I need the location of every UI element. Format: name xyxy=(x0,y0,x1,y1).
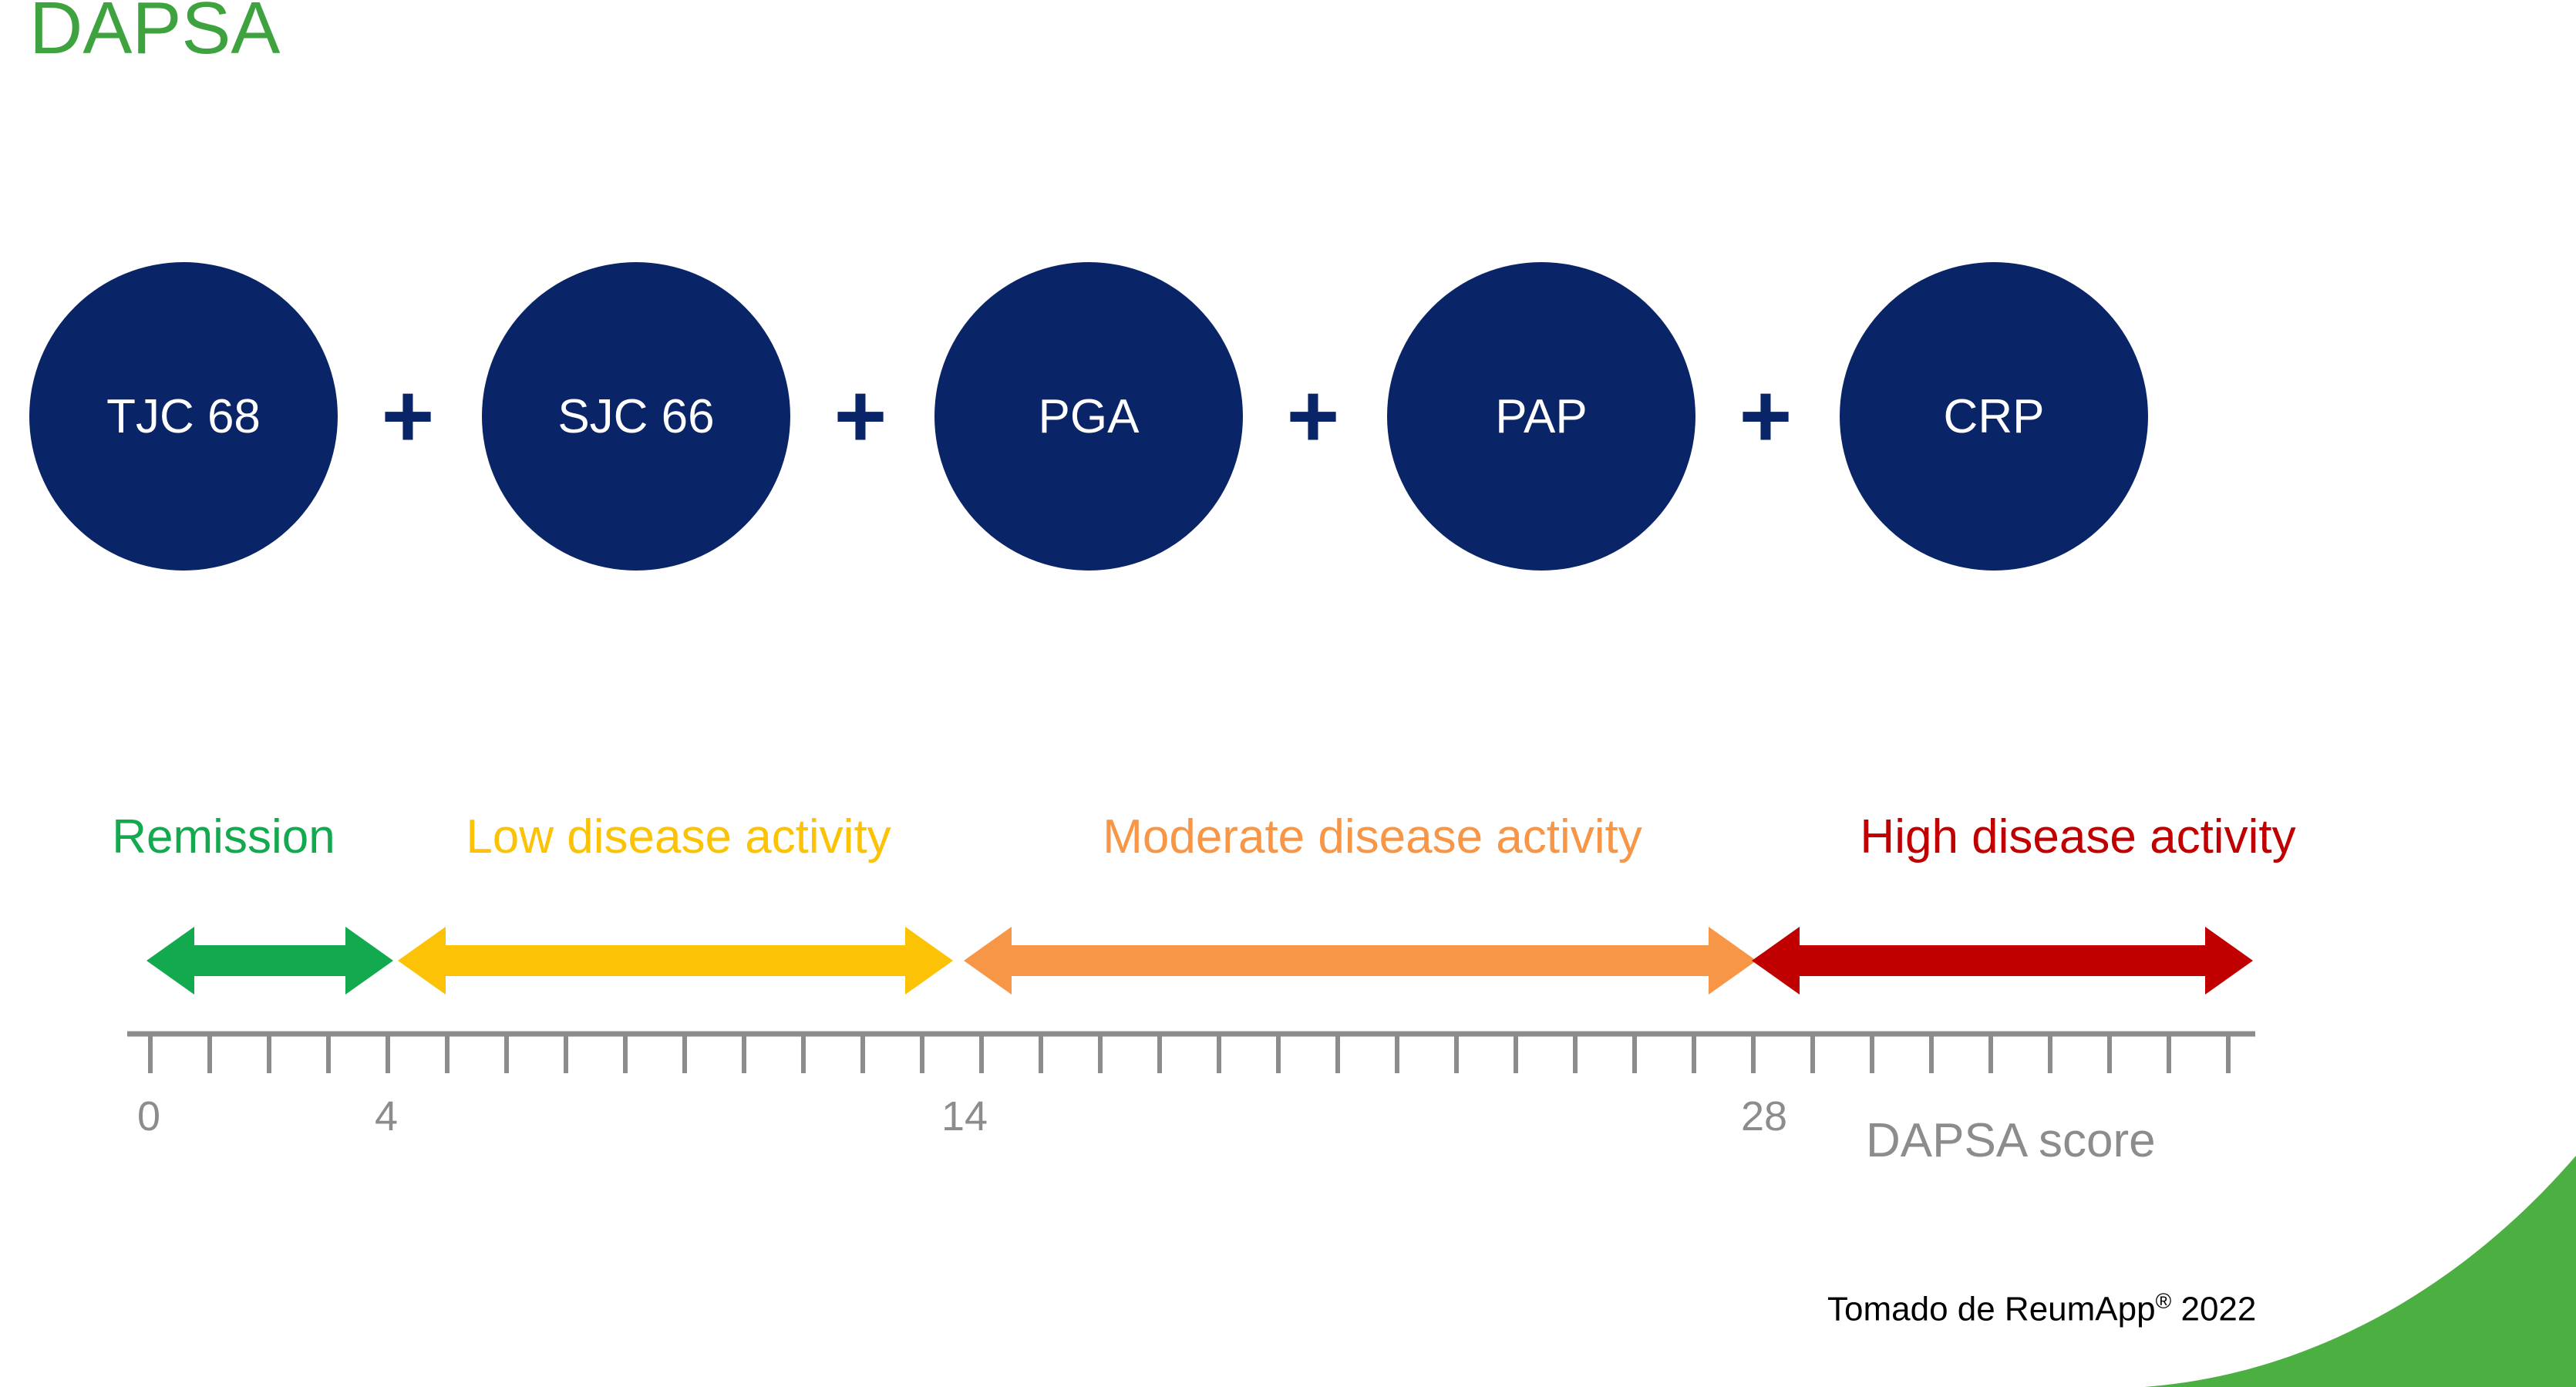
dapsa-formula: TJC 68 + SJC 66 + PGA + PAP + CRP xyxy=(0,262,2576,571)
plus-icon-2: + xyxy=(827,262,894,571)
source-credit: Tomado de ReumApp® 2022 xyxy=(1827,1289,2256,1329)
plus-icon-4: + xyxy=(1732,262,1799,571)
registered-trademark-icon: ® xyxy=(2156,1289,2172,1313)
page-title: DAPSA xyxy=(29,0,280,71)
band-arrow-remission xyxy=(146,925,393,996)
band-arrow-high xyxy=(1752,925,2253,996)
band-label-moderate: Moderate disease activity xyxy=(1018,810,1727,864)
component-label-pap: PAP xyxy=(1495,389,1587,444)
band-label-low: Low disease activity xyxy=(405,810,952,864)
component-label-pga: PGA xyxy=(1039,389,1140,444)
band-arrow-low xyxy=(398,925,953,996)
band-label-remission: Remission xyxy=(85,810,362,864)
tick-label-14: 14 xyxy=(941,1092,988,1140)
component-circle-crp: CRP xyxy=(1840,262,2148,571)
band-label-high: High disease activity xyxy=(1796,810,2359,864)
band-arrow-moderate xyxy=(964,925,1756,996)
tick-label-28: 28 xyxy=(1741,1092,1787,1140)
credit-prefix: Tomado de ReumApp xyxy=(1827,1291,2156,1328)
corner-swoosh-decoration xyxy=(2144,1156,2576,1387)
component-circle-pap: PAP xyxy=(1387,262,1695,571)
component-label-sjc: SJC 66 xyxy=(557,389,714,444)
component-label-tjc: TJC 68 xyxy=(106,389,261,444)
tick-label-4: 4 xyxy=(375,1092,398,1140)
plus-icon-1: + xyxy=(375,262,441,571)
dapsa-score-axis xyxy=(0,1030,2576,1084)
credit-year: 2022 xyxy=(2180,1291,2256,1328)
plus-icon-3: + xyxy=(1280,262,1346,571)
component-circle-tjc: TJC 68 xyxy=(29,262,338,571)
component-circle-sjc: SJC 66 xyxy=(482,262,790,571)
tick-label-0: 0 xyxy=(137,1092,160,1140)
component-label-crp: CRP xyxy=(1944,389,2045,444)
component-circle-pga: PGA xyxy=(934,262,1243,571)
axis-title: DAPSA score xyxy=(1866,1113,2156,1168)
dapsa-infographic-slide: DAPSA TJC 68 + SJC 66 + PGA + PAP + CRP … xyxy=(0,0,2576,1387)
